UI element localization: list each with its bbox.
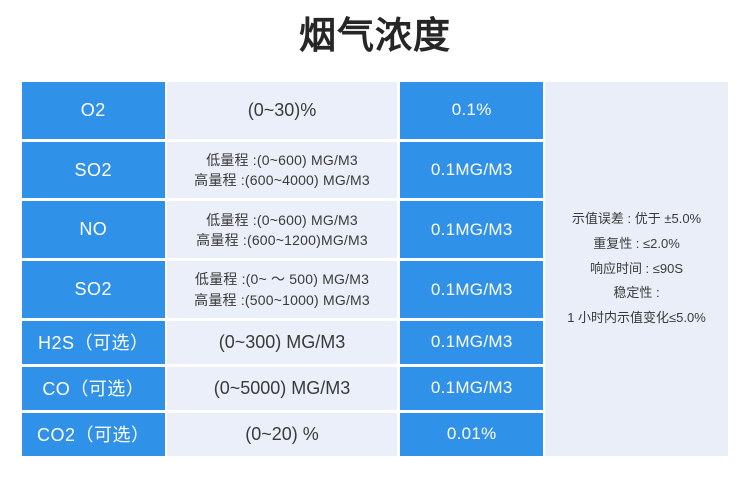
table-row: NO低量程 :(0~600) MG/M3高量程 :(600~1200)MG/M3… [22,201,543,258]
measuring-range-cell: 低量程 :(0~ ～ 500) MG/M3高量程 :(500~1000) MG/… [167,261,398,318]
range-line: (0~300) MG/M3 [219,329,346,355]
resolution-cell: 0.1MG/M3 [400,142,543,199]
gas-name-cell: CO（可选） [22,367,165,410]
measuring-range-cell: (0~5000) MG/M3 [167,367,398,410]
measuring-range-cell: (0~20) % [167,413,398,456]
gas-name-cell: NO [22,201,165,258]
range-line: 低量程 :(0~600) MG/M3 [206,210,358,230]
range-line: 低量程 :(0~600) MG/M3 [206,150,358,170]
range-line: (0~5000) MG/M3 [214,375,351,401]
note-line: 示值误差 : 优于 ±5.0% [572,207,701,232]
page-title: 烟气浓度 [0,10,750,62]
measuring-range-cell: 低量程 :(0~600) MG/M3高量程 :(600~1200)MG/M3 [167,201,398,258]
range-line: (0~20) % [245,421,319,447]
performance-notes-cell: 示值误差 : 优于 ±5.0%重复性 : ≤2.0%响应时间 : ≤90S稳定性… [545,82,728,456]
table-row: SO2低量程 :(0~600) MG/M3高量程 :(600~4000) MG/… [22,142,543,199]
gas-name-cell: CO2（可选） [22,413,165,456]
resolution-cell: 0.1MG/M3 [400,261,543,318]
table-rows-container: O2(0~30)%0.1%SO2低量程 :(0~600) MG/M3高量程 :(… [22,82,543,456]
resolution-cell: 0.1MG/M3 [400,201,543,258]
note-line: 响应时间 : ≤90S [590,257,683,282]
range-line: 高量程 :(600~4000) MG/M3 [194,170,370,190]
table-grid: O2(0~30)%0.1%SO2低量程 :(0~600) MG/M3高量程 :(… [22,82,728,456]
gas-name-cell: H2S（可选） [22,321,165,364]
measuring-range-cell: (0~30)% [167,82,398,139]
table-row: O2(0~30)%0.1% [22,82,543,139]
note-line: 1 小时内示值变化≤5.0% [567,306,706,331]
gas-name-cell: SO2 [22,261,165,318]
note-line: 稳定性 : [613,281,659,306]
resolution-cell: 0.1% [400,82,543,139]
measuring-range-cell: (0~300) MG/M3 [167,321,398,364]
table-row: SO2低量程 :(0~ ～ 500) MG/M3高量程 :(500~1000) … [22,261,543,318]
note-line: 重复性 : ≤2.0% [593,232,680,257]
gas-name-cell: O2 [22,82,165,139]
resolution-cell: 0.01% [400,413,543,456]
range-line: 高量程 :(500~1000) MG/M3 [194,290,370,310]
measuring-range-cell: 低量程 :(0~600) MG/M3高量程 :(600~4000) MG/M3 [167,142,398,199]
resolution-cell: 0.1MG/M3 [400,321,543,364]
table-row: CO（可选）(0~5000) MG/M30.1MG/M3 [22,367,543,410]
resolution-cell: 0.1MG/M3 [400,367,543,410]
table-row: H2S（可选）(0~300) MG/M30.1MG/M3 [22,321,543,364]
specification-table: O2(0~30)%0.1%SO2低量程 :(0~600) MG/M3高量程 :(… [22,82,728,456]
range-line: (0~30)% [248,97,317,123]
gas-name-cell: SO2 [22,142,165,199]
range-line: 低量程 :(0~ ～ 500) MG/M3 [195,269,369,289]
table-row: CO2（可选）(0~20) %0.01% [22,413,543,456]
range-line: 高量程 :(600~1200)MG/M3 [196,230,368,250]
